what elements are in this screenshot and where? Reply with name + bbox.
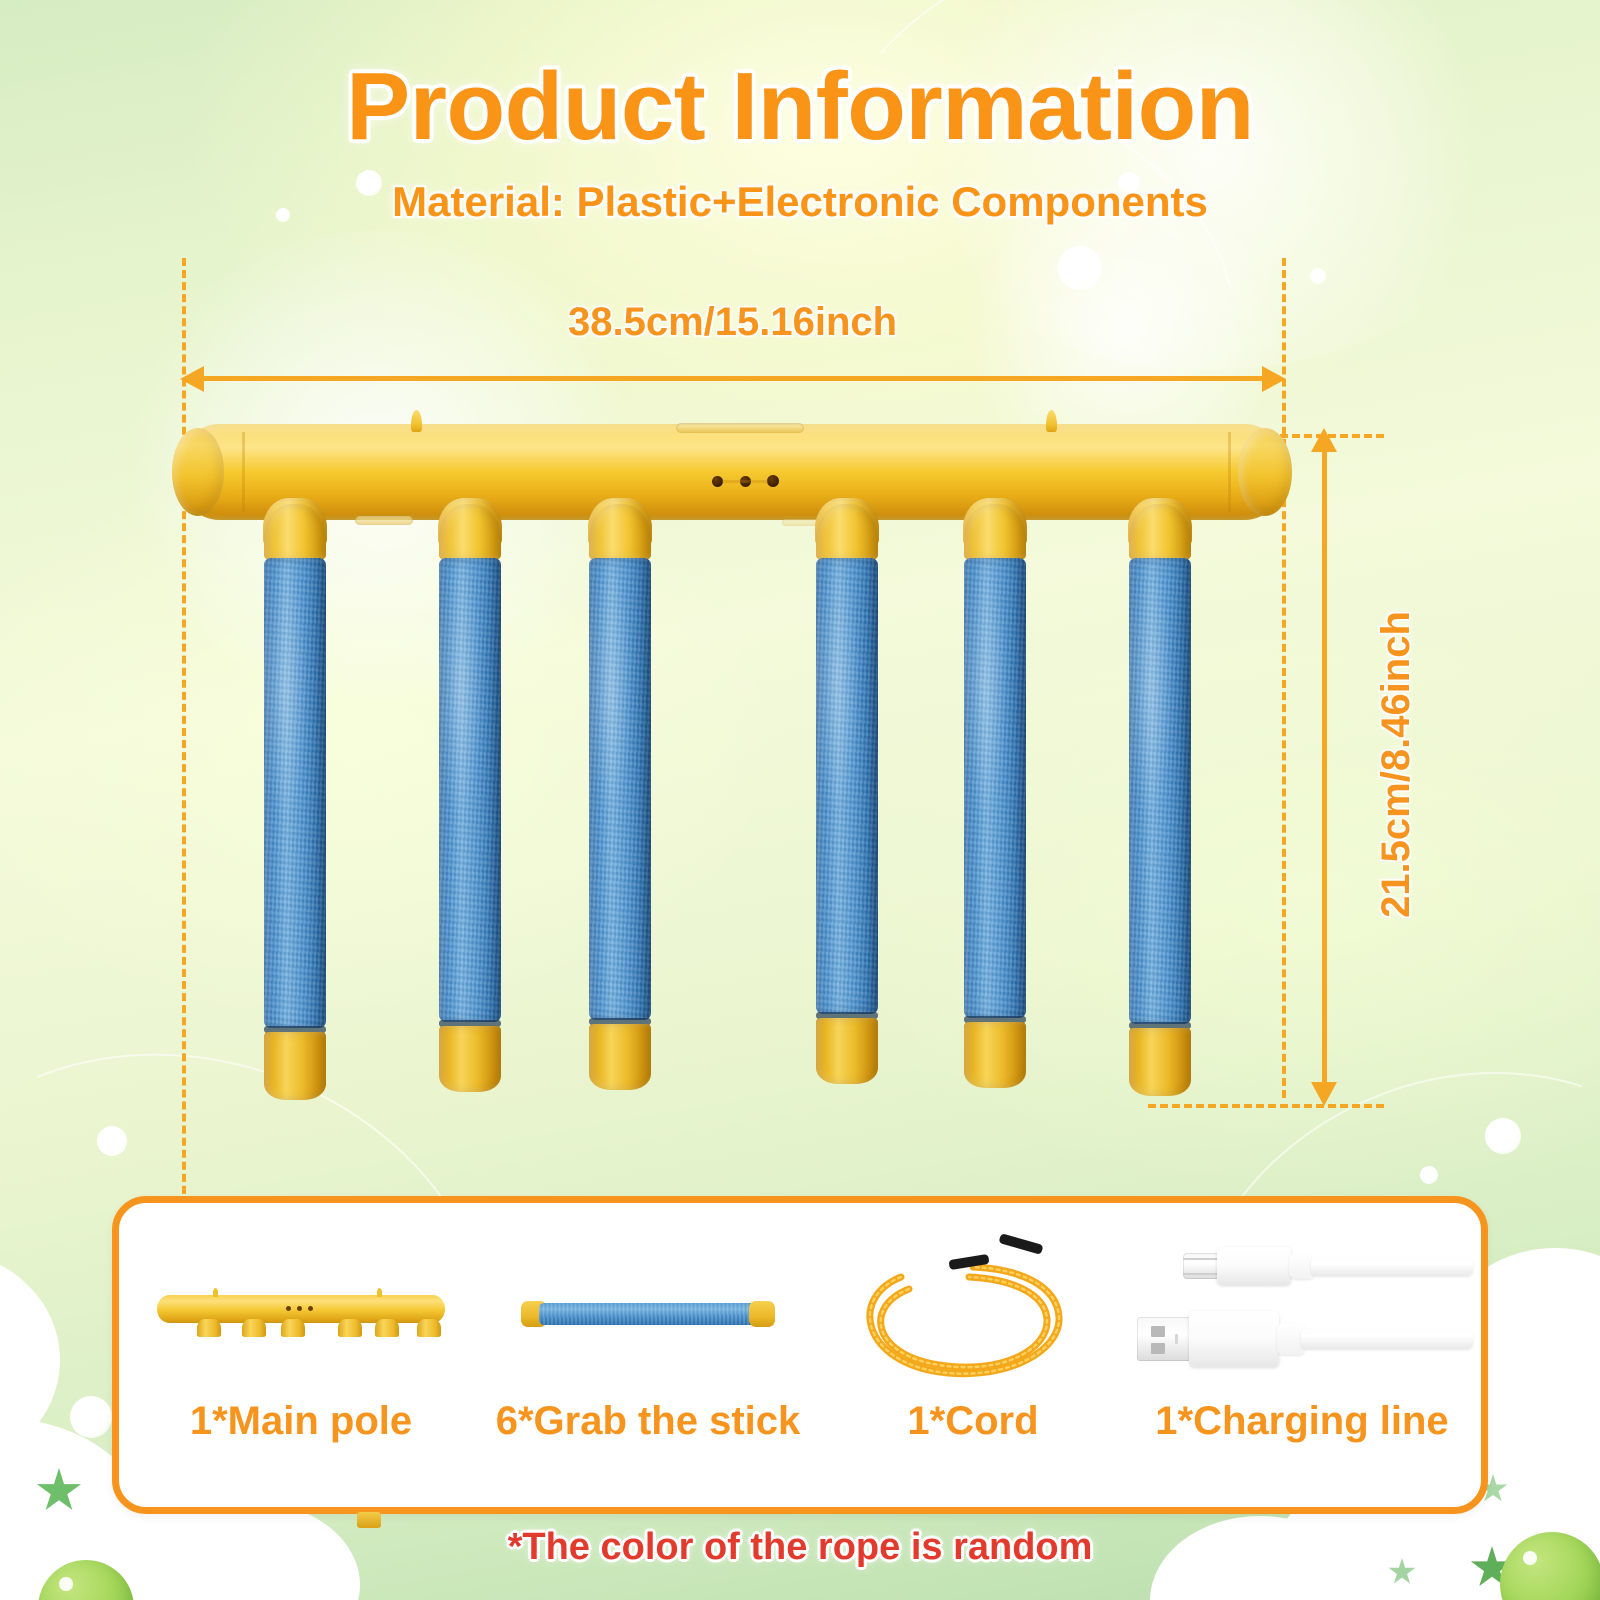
grab-stick [589, 504, 651, 1090]
bubble [70, 1396, 112, 1438]
guide-dash-left [182, 258, 186, 1218]
usb-charging-cable-icon [1123, 1231, 1481, 1401]
width-arrow-right [1262, 366, 1286, 392]
indicator-led [712, 476, 723, 487]
indicator-led [767, 475, 779, 487]
indicator-led [740, 476, 751, 487]
page-title: Product Information [0, 52, 1600, 162]
accessory-label: 1*Charging line [1123, 1399, 1481, 1444]
stick-foam-grip [964, 558, 1026, 1018]
pole-seam [242, 432, 245, 512]
mini-socket [197, 1319, 221, 1337]
usb-c-tip-line [1183, 1273, 1217, 1275]
accessory-label: 1*Main pole [129, 1399, 473, 1444]
stick-collar [439, 1020, 501, 1027]
stick-tip [264, 504, 326, 560]
stick-collar [1129, 1022, 1191, 1029]
usb-c-shell [1217, 1247, 1291, 1285]
accessory-item-grab-stick: 6*Grab the stick [473, 1203, 823, 1507]
height-dimension-label: 21.5cm/8.46inch [1374, 611, 1419, 918]
pole-bottom-slot [355, 516, 413, 525]
accessories-box: 1*Main pole 6*Grab the stick [112, 1196, 1488, 1514]
mini-stick-foam [539, 1303, 757, 1325]
socket [1128, 498, 1192, 546]
stick-foam-grip [439, 558, 501, 1022]
pole-top-slot [676, 423, 804, 433]
stick-tip [816, 504, 878, 560]
footnote-text: *The color of the rope is random [0, 1526, 1600, 1569]
grab-stick [816, 504, 878, 1084]
led-connector [722, 480, 768, 483]
mini-pole-nub [377, 1288, 382, 1297]
grab-stick-icon [473, 1231, 823, 1401]
mini-socket [417, 1319, 441, 1337]
usb-a-pin [1151, 1343, 1165, 1354]
mini-socket [338, 1319, 362, 1337]
material-subtitle: Material: Plastic+Electronic Components [0, 178, 1600, 226]
grab-stick [439, 504, 501, 1092]
accessory-item-main-pole: 1*Main pole [129, 1203, 473, 1507]
cord-svg [823, 1231, 1123, 1401]
stick-collar [816, 1012, 878, 1019]
usb-a-divider [1175, 1334, 1178, 1344]
stick-foot-cap [1129, 1028, 1191, 1096]
grab-stick [964, 504, 1026, 1088]
width-dimension-label: 38.5cm/15.16inch [568, 300, 897, 345]
grab-stick [264, 504, 326, 1100]
width-measure-line [194, 376, 1274, 381]
accessory-item-charging-line: 1*Charging line [1123, 1203, 1481, 1507]
usb-a-tip [1137, 1317, 1191, 1361]
pole-bottom-slot [782, 519, 830, 526]
stick-collar [264, 1026, 326, 1033]
mini-stick-cap [749, 1301, 775, 1327]
stick-tip [589, 504, 651, 560]
bubble [1310, 268, 1326, 284]
guide-dash-top [1148, 434, 1384, 438]
stick-collar [964, 1016, 1026, 1023]
bubble [1485, 1118, 1521, 1154]
usb-a-cable [1301, 1329, 1473, 1349]
socket [588, 498, 652, 546]
mini-socket [375, 1319, 399, 1337]
pole-nub [411, 410, 422, 432]
usb-a-pin [1151, 1326, 1165, 1337]
bubble [1058, 246, 1102, 290]
height-measure-line [1322, 448, 1327, 1092]
usb-c-tip [1183, 1253, 1219, 1279]
socket [263, 498, 327, 546]
infographic-canvas: Product Information Material: Plastic+El… [0, 0, 1600, 1600]
bubble [1420, 1166, 1438, 1184]
stick-foot-cap [964, 1022, 1026, 1088]
mini-pole-nub [213, 1288, 218, 1297]
cord-icon [823, 1231, 1123, 1401]
bubble [97, 1126, 127, 1156]
accessory-label: 1*Cord [823, 1399, 1123, 1444]
stick-tip [1129, 504, 1191, 560]
mini-socket [281, 1319, 305, 1337]
socket [963, 498, 1027, 546]
pole-seam [1228, 432, 1231, 512]
mini-socket [242, 1319, 266, 1337]
usb-c-cable [1311, 1257, 1473, 1276]
stick-foam-grip [264, 558, 326, 1028]
glow-blob [120, 230, 640, 700]
mini-indicator-led [308, 1306, 313, 1311]
socket [438, 498, 502, 546]
stick-tip [964, 504, 1026, 560]
main-pole-icon [129, 1231, 473, 1401]
height-arrow-up [1311, 428, 1337, 452]
stick-foot-cap [589, 1024, 651, 1090]
mini-indicator-led [286, 1306, 291, 1311]
stick-foot-cap [439, 1026, 501, 1092]
grab-stick [1129, 504, 1191, 1096]
usb-c-tip-line [1183, 1258, 1217, 1260]
width-arrow-left [180, 366, 204, 392]
stick-collar [589, 1018, 651, 1025]
usb-a-shell [1189, 1311, 1279, 1367]
accessory-item-cord: 1*Cord [823, 1203, 1123, 1507]
guide-dash-bottom [1148, 1104, 1384, 1108]
main-pole-left-cap [172, 428, 224, 516]
stick-foam-grip [589, 558, 651, 1020]
stick-tip [439, 504, 501, 560]
accessory-label: 6*Grab the stick [473, 1399, 823, 1444]
height-arrow-down [1311, 1082, 1337, 1106]
stick-foam-grip [816, 558, 878, 1014]
mini-indicator-led [297, 1306, 302, 1311]
socket [815, 498, 879, 546]
stick-foot-cap [816, 1018, 878, 1084]
stick-foam-grip [1129, 558, 1191, 1024]
